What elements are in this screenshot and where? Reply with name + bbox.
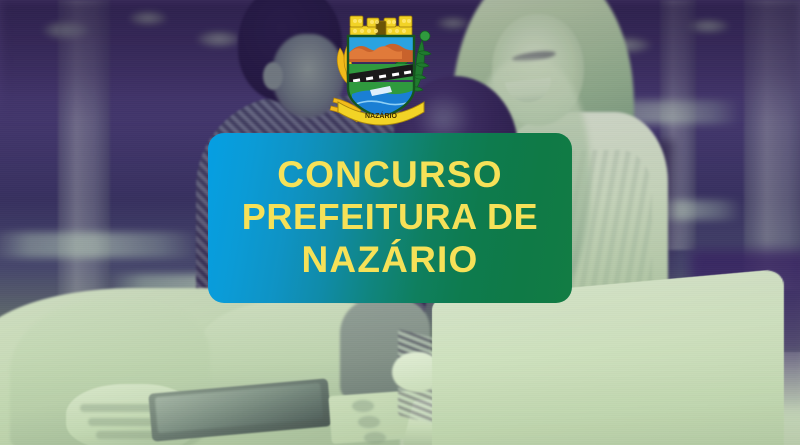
person-checkered-shirt-ear xyxy=(263,62,283,90)
finger xyxy=(80,404,154,412)
banner-line-1: CONCURSO xyxy=(277,153,502,196)
banner-line-3: NAZÁRIO xyxy=(302,238,479,281)
window-strip xyxy=(0,232,200,258)
keyboard-key xyxy=(352,400,374,412)
finger xyxy=(88,418,160,426)
title-banner: CONCURSO PREFEITURA DE NAZÁRIO xyxy=(208,133,572,303)
banner-line-2: PREFEITURA DE xyxy=(242,196,539,238)
coat-of-arms-icon: NAZÁRIO xyxy=(326,2,436,128)
poster-root: NAZÁRIO CONCURSO PREFEITURA DE NAZÁRIO xyxy=(0,0,800,445)
keyboard-key xyxy=(358,416,380,428)
motto-text: NAZÁRIO xyxy=(365,111,397,120)
keyboard-key xyxy=(364,432,386,444)
